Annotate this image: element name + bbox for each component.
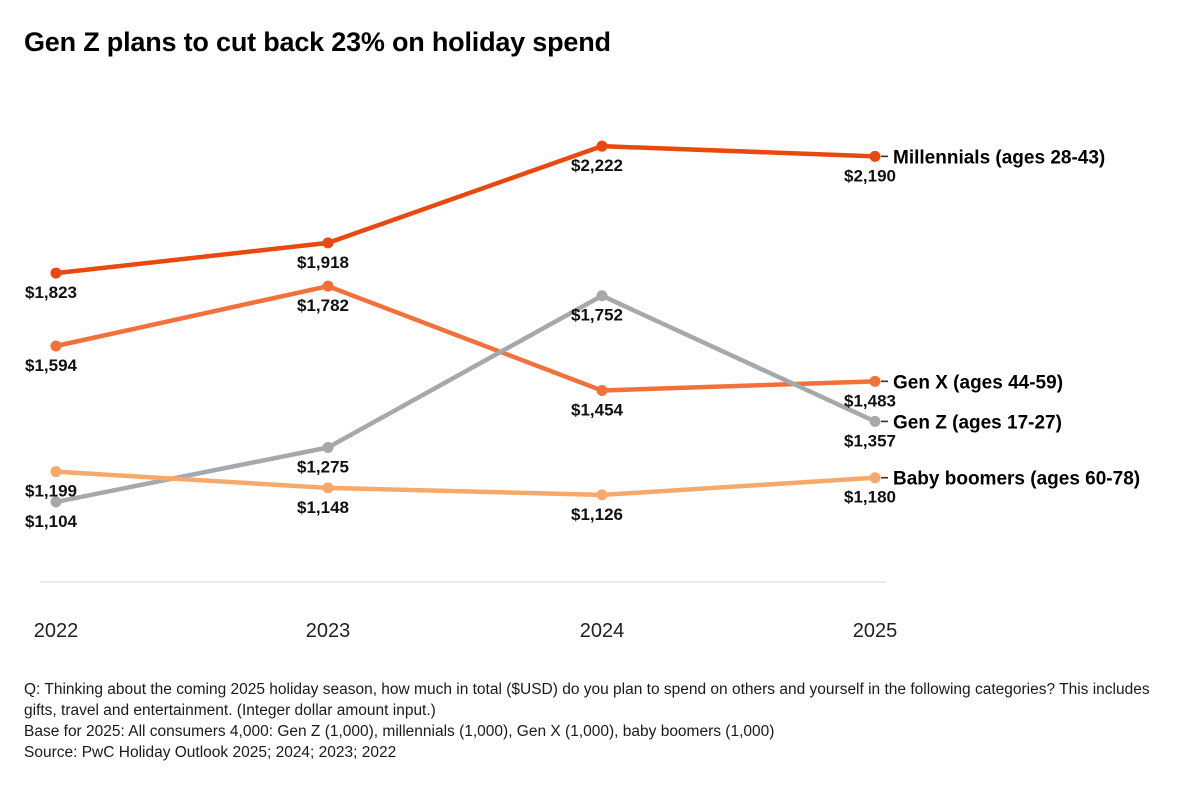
- chart-svg: $1,823$1,918$2,222$2,190$1,594$1,782$1,4…: [0, 0, 1200, 660]
- data-value-label: $1,454: [571, 401, 624, 420]
- data-point[interactable]: [51, 341, 62, 352]
- data-value-label: $1,918: [297, 253, 349, 272]
- data-value-label: $2,190: [844, 166, 896, 185]
- data-point[interactable]: [870, 151, 881, 162]
- data-value-label: $2,222: [571, 156, 623, 175]
- series-layer: [51, 141, 881, 508]
- data-point[interactable]: [597, 290, 608, 301]
- data-value-label: $1,126: [571, 505, 623, 524]
- data-value-label: $1,752: [571, 306, 623, 325]
- footnote-base: Base for 2025: All consumers 4,000: Gen …: [24, 721, 1174, 742]
- x-axis-tick-label: 2022: [34, 620, 79, 642]
- data-point[interactable]: [51, 466, 62, 477]
- data-label-layer: $1,823$1,918$2,222$2,190$1,594$1,782$1,4…: [25, 156, 896, 531]
- data-value-label: $1,357: [844, 431, 896, 450]
- legend-layer: Millennials (ages 28-43)Gen X (ages 44-5…: [881, 147, 1140, 489]
- data-value-label: $1,104: [25, 512, 78, 531]
- series-2: [51, 281, 881, 396]
- data-value-label: $1,148: [297, 498, 349, 517]
- chart-container: Gen Z plans to cut back 23% on holiday s…: [0, 0, 1200, 801]
- footnote-source: Source: PwC Holiday Outlook 2025; 2024; …: [24, 742, 1174, 763]
- x-axis-tick-label: 2024: [580, 620, 625, 642]
- data-point[interactable]: [870, 472, 881, 483]
- data-point[interactable]: [597, 489, 608, 500]
- x-axis-tick-layer: 2022202320242025: [34, 620, 898, 642]
- data-point[interactable]: [597, 141, 608, 152]
- data-value-label: $1,199: [25, 482, 77, 501]
- data-point[interactable]: [323, 442, 334, 453]
- legend-label: Gen Z (ages 17-27): [893, 412, 1062, 433]
- data-value-label: $1,275: [297, 458, 349, 477]
- legend-label: Baby boomers (ages 60-78): [893, 469, 1140, 490]
- data-value-label: $1,180: [844, 488, 896, 507]
- series-4: [51, 466, 881, 500]
- series-line: [56, 286, 875, 390]
- data-value-label: $1,823: [25, 283, 77, 302]
- data-value-label: $1,594: [25, 356, 78, 375]
- series-line: [56, 146, 875, 273]
- series-3: [51, 290, 881, 507]
- data-point[interactable]: [870, 416, 881, 427]
- series-1: [51, 141, 881, 279]
- x-axis-tick-label: 2023: [306, 620, 351, 642]
- data-point[interactable]: [323, 237, 334, 248]
- series-line: [56, 296, 875, 502]
- data-point[interactable]: [323, 281, 334, 292]
- x-axis-tick-label: 2025: [853, 620, 898, 642]
- footnote-question: Q: Thinking about the coming 2025 holida…: [24, 679, 1174, 721]
- data-value-label: $1,782: [297, 296, 349, 315]
- legend-label: Millennials (ages 28-43): [893, 147, 1105, 168]
- data-point[interactable]: [870, 376, 881, 387]
- data-value-label: $1,483: [844, 391, 896, 410]
- legend-label: Gen X (ages 44-59): [893, 372, 1063, 393]
- data-point[interactable]: [597, 385, 608, 396]
- footnotes: Q: Thinking about the coming 2025 holida…: [24, 679, 1174, 763]
- data-point[interactable]: [51, 268, 62, 279]
- data-point[interactable]: [323, 482, 334, 493]
- line-chart-plot: $1,823$1,918$2,222$2,190$1,594$1,782$1,4…: [0, 0, 1200, 660]
